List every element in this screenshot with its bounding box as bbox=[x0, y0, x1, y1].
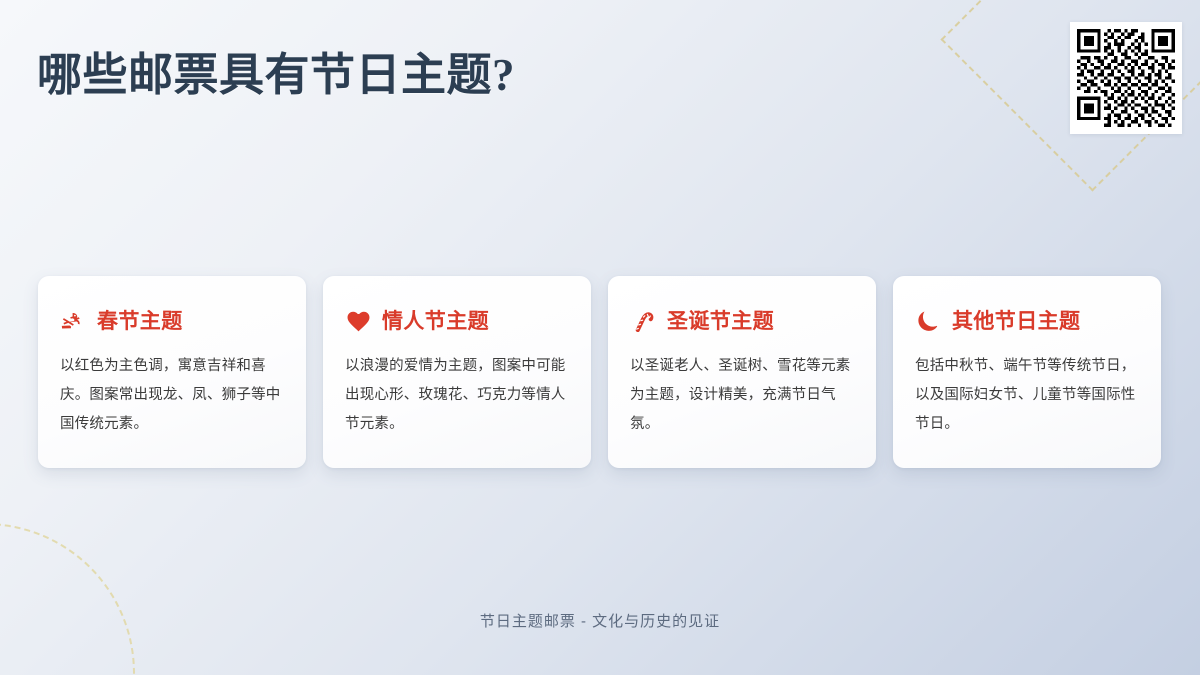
card-header: 圣诞节主题 bbox=[630, 310, 854, 332]
theme-card-other-festivals[interactable]: 其他节日主题 包括中秋节、端午节等传统节日，以及国际妇女节、儿童节等国际性节日。 bbox=[893, 276, 1161, 468]
theme-card-christmas[interactable]: 圣诞节主题 以圣诞老人、圣诞树、雪花等元素为主题，设计精美，充满节日气氛。 bbox=[608, 276, 876, 468]
heart-icon bbox=[345, 310, 371, 332]
page-title: 哪些邮票具有节日主题? bbox=[37, 38, 515, 103]
card-title: 春节主题 bbox=[97, 311, 183, 332]
card-body: 以浪漫的爱情为主题，图案中可能出现心形、玫瑰花、巧克力等情人节元素。 bbox=[345, 352, 569, 439]
card-header: 春节主题 bbox=[60, 310, 284, 332]
card-body: 以圣诞老人、圣诞树、雪花等元素为主题，设计精美，充满节日气氛。 bbox=[630, 352, 854, 439]
qr-code-image bbox=[1077, 29, 1175, 127]
card-header: 其他节日主题 bbox=[915, 310, 1139, 332]
card-body: 以红色为主色调，寓意吉祥和喜庆。图案常出现龙、凤、狮子等中国传统元素。 bbox=[60, 352, 284, 439]
card-title: 圣诞节主题 bbox=[667, 311, 774, 332]
theme-card-list: 春节主题 以红色为主色调，寓意吉祥和喜庆。图案常出现龙、凤、狮子等中国传统元素。… bbox=[38, 276, 1162, 468]
card-title: 情人节主题 bbox=[382, 311, 489, 332]
card-body: 包括中秋节、端午节等传统节日，以及国际妇女节、儿童节等国际性节日。 bbox=[915, 352, 1139, 439]
footer-caption: 节日主题邮票 - 文化与历史的见证 bbox=[0, 610, 1200, 631]
card-title: 其他节日主题 bbox=[952, 311, 1080, 332]
crescent-moon-icon bbox=[915, 310, 941, 332]
theme-card-valentines[interactable]: 情人节主题 以浪漫的爱情为主题，图案中可能出现心形、玫瑰花、巧克力等情人节元素。 bbox=[323, 276, 591, 468]
card-header: 情人节主题 bbox=[345, 310, 569, 332]
qr-code bbox=[1070, 22, 1182, 134]
candy-cane-icon bbox=[630, 310, 656, 332]
dragon-icon bbox=[60, 310, 86, 332]
theme-card-spring-festival[interactable]: 春节主题 以红色为主色调，寓意吉祥和喜庆。图案常出现龙、凤、狮子等中国传统元素。 bbox=[38, 276, 306, 468]
dashed-circle-decoration bbox=[0, 523, 135, 675]
